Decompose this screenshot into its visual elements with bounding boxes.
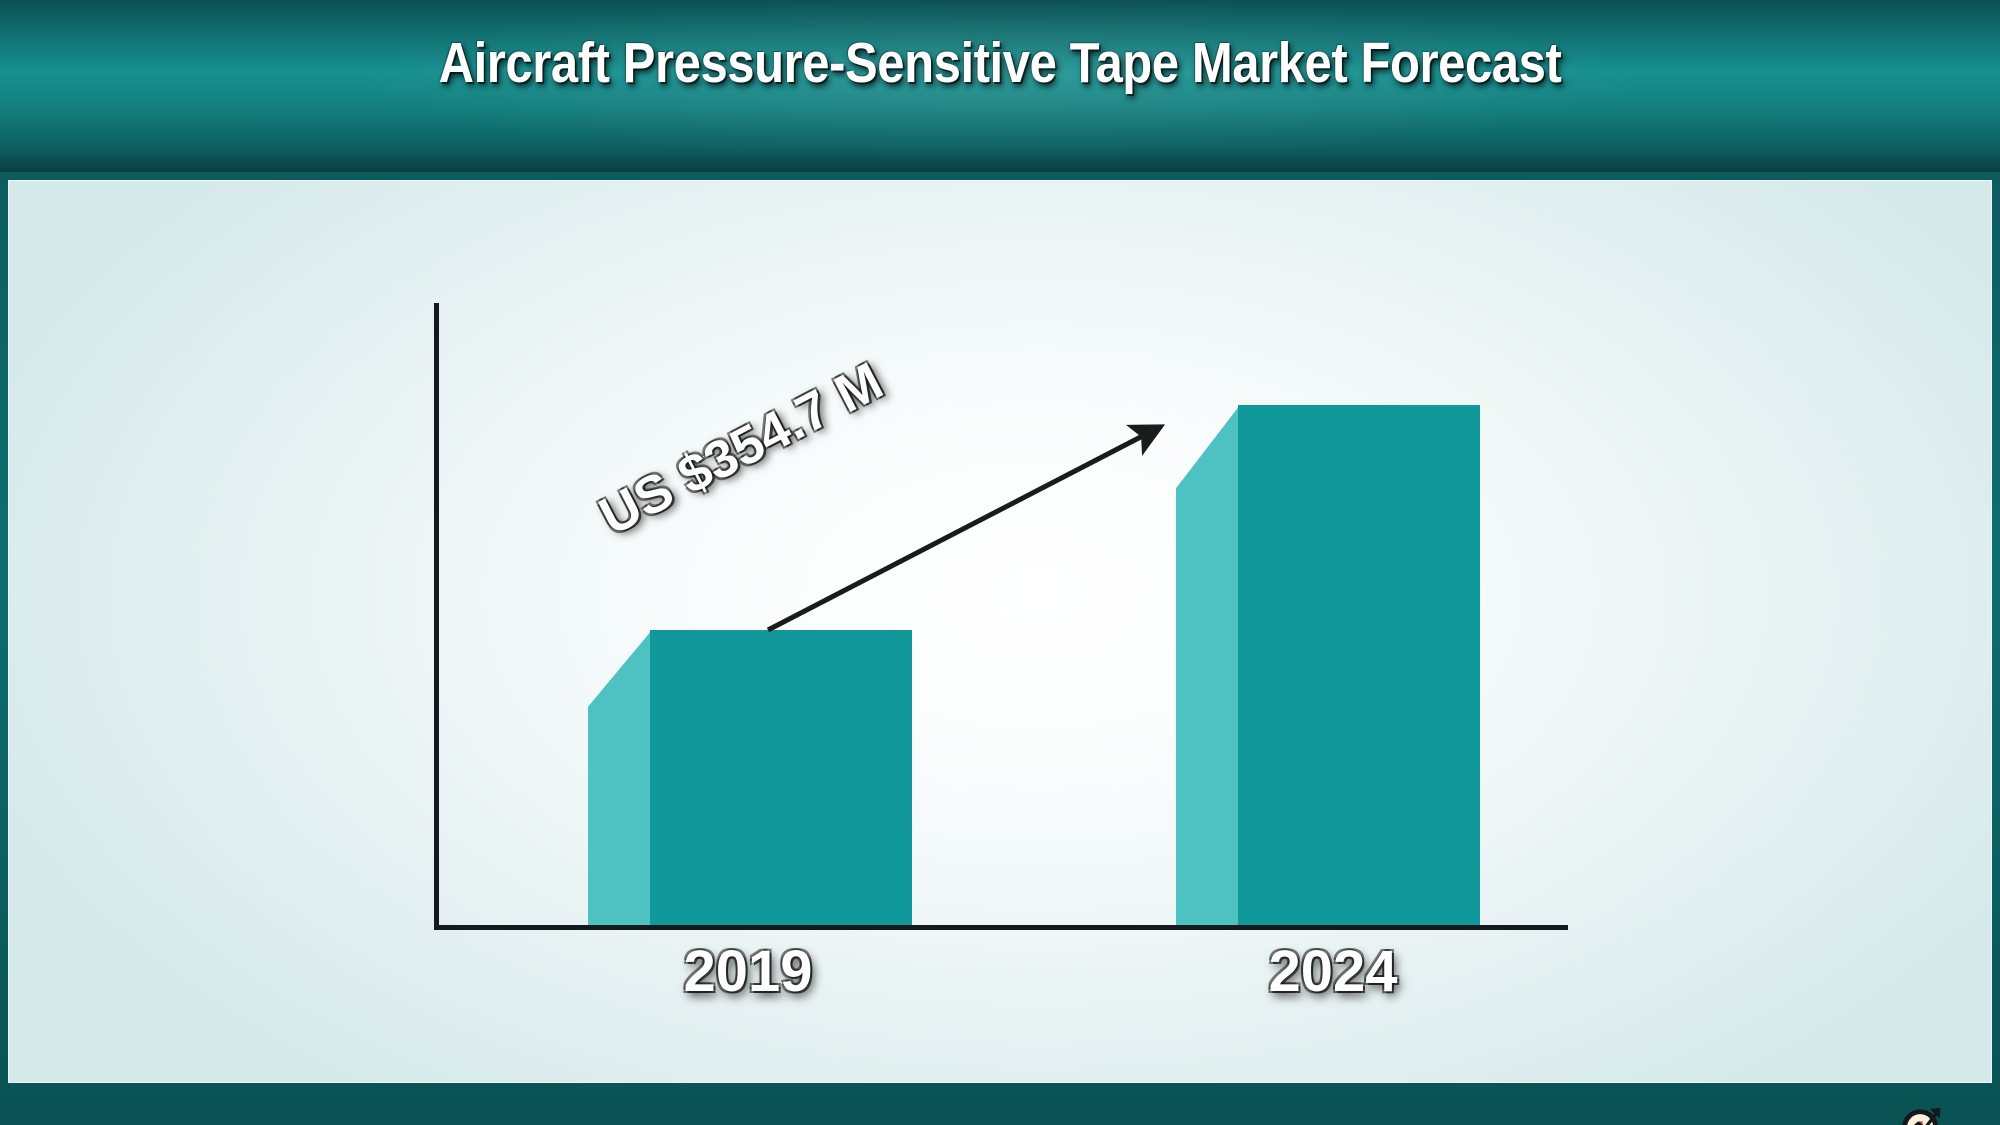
bar-2019-side-face — [588, 630, 652, 925]
bar-2024-side-face — [1176, 405, 1240, 925]
bar-2024-front-face — [1238, 405, 1480, 925]
bar-2019[interactable] — [588, 630, 912, 925]
magnifier-growth-chart-icon — [1896, 1104, 1954, 1125]
x-axis-label-2024: 2024 — [1153, 938, 1513, 1005]
y-axis-line — [434, 303, 439, 930]
bar-2024[interactable] — [1176, 405, 1480, 925]
infographic-root: Aircraft Pressure-Sensitive Tape Market … — [0, 0, 2000, 1125]
x-axis-label-2019: 2019 — [568, 938, 928, 1005]
page-title: Aircraft Pressure-Sensitive Tape Market … — [140, 30, 1860, 96]
company-logo[interactable]: Stratview TM Research Strategic Insights… — [1748, 1108, 1994, 1125]
chart-canvas: US $354.7 M 2019 2024 Stratview TM — [8, 180, 1992, 1083]
growth-arrow-icon — [8, 180, 1992, 1083]
plot-area: US $354.7 M 2019 2024 Stratview TM — [8, 180, 1992, 1083]
growth-arrow-label: US $354.7 M — [590, 351, 893, 548]
bar-2019-front-face — [650, 630, 912, 925]
x-axis-line — [434, 925, 1568, 930]
